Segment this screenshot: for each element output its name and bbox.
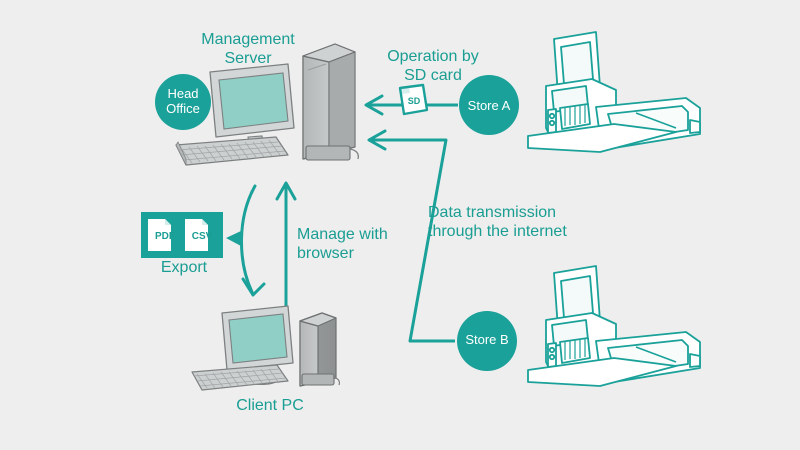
pos-terminal-icon-b (528, 266, 700, 386)
diagram-canvas: Management Server Operation by SD card D… (0, 0, 800, 450)
sd-card-label: SD (403, 96, 425, 106)
client-tower-icon (300, 313, 339, 386)
management-keyboard-icon (176, 137, 288, 165)
server-tower-icon (303, 44, 358, 160)
connector-client-to-server-up (277, 183, 295, 310)
diagram-svg (0, 0, 800, 450)
export-box[interactable] (141, 212, 223, 258)
export-arrowhead-icon (226, 231, 241, 246)
pos-terminal-icon-a (528, 32, 700, 152)
client-keyboard-icon (192, 365, 288, 390)
connector-export-curve (241, 186, 264, 295)
store-b-node[interactable] (457, 311, 517, 371)
store-a-node[interactable] (459, 75, 519, 135)
connector-store-b-to-server (369, 131, 455, 341)
head-office-node[interactable] (155, 74, 211, 130)
